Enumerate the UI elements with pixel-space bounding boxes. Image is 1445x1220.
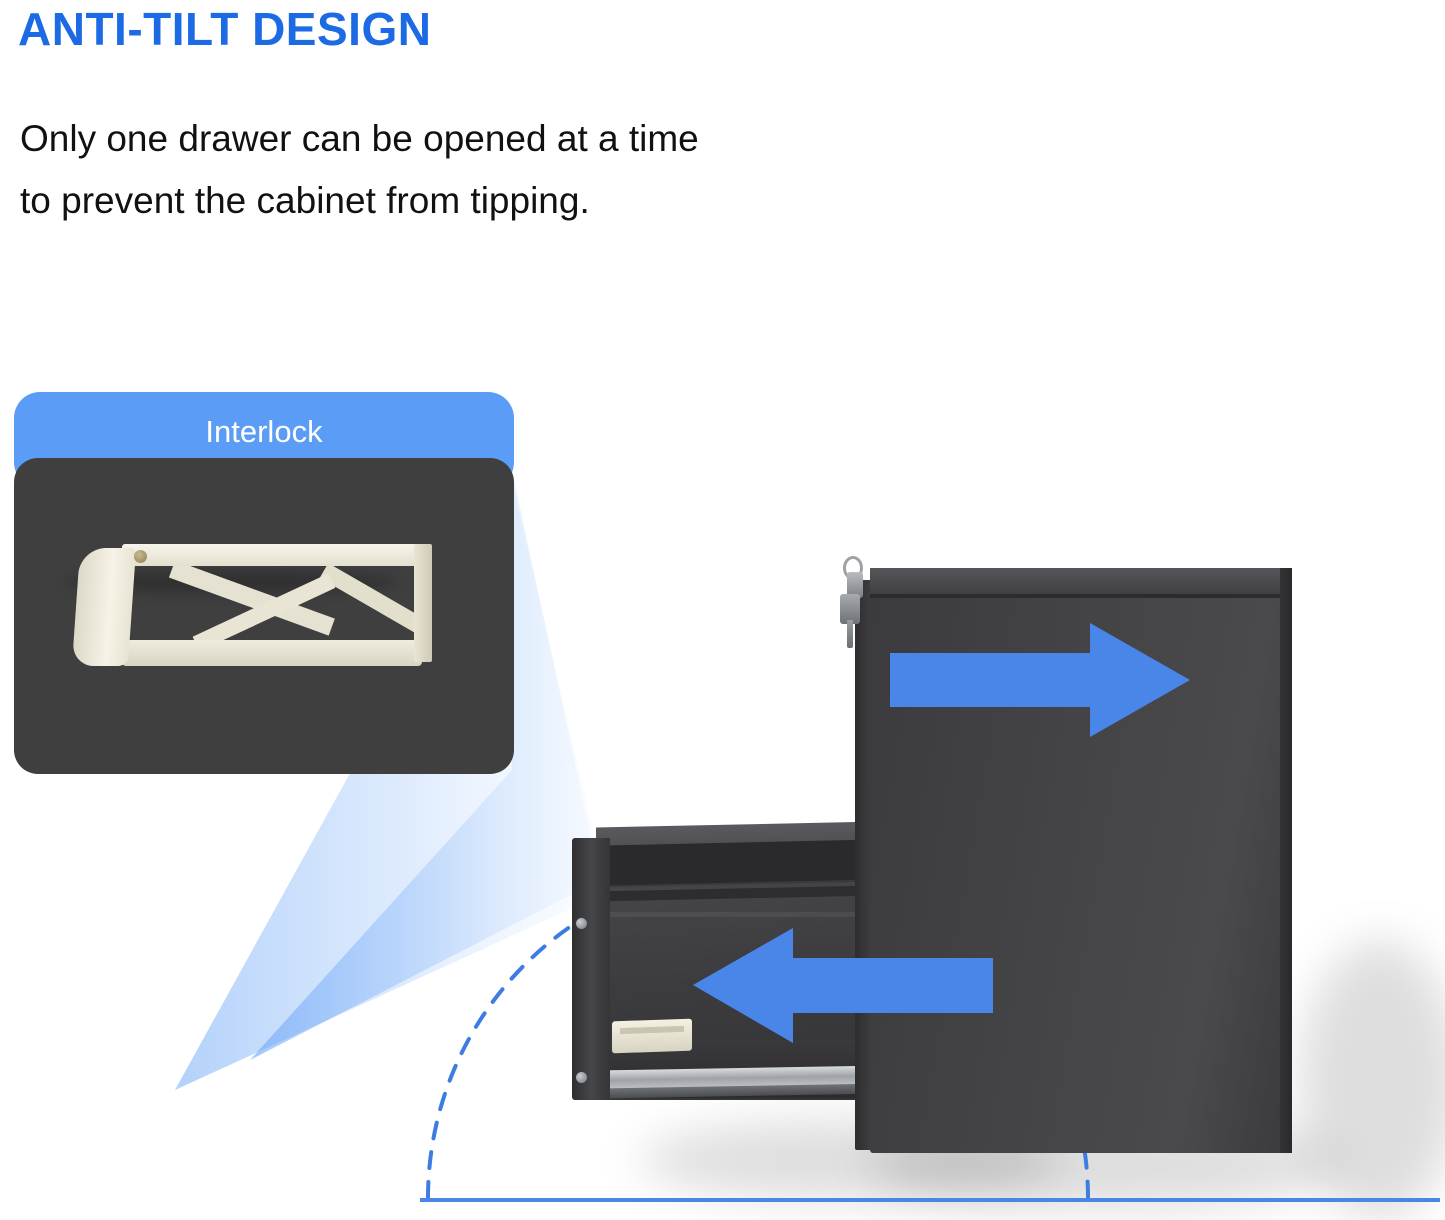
drawer-rivet-bottom (576, 1072, 587, 1083)
cabinet-right-edge (1280, 568, 1292, 1153)
page-subtitle: Only one drawer can be opened at a time … (20, 108, 720, 232)
interlock-bottom-flange (122, 640, 422, 666)
interlock-top-flange (122, 544, 431, 566)
interlock-screw-icon (134, 550, 147, 563)
cabinet-top-strip (870, 568, 1290, 596)
drawer-rivet-top (576, 918, 587, 929)
page-title: ANTI-TILT DESIGN (18, 2, 431, 56)
cabinet-top-edge (870, 594, 1290, 598)
top-arrow-right-icon (890, 615, 1195, 745)
interlock-left-hook (72, 548, 136, 666)
drawer-interlock-part (612, 1019, 692, 1054)
drawer-front-panel (572, 838, 610, 1100)
callout-tab-label: Interlock (14, 414, 514, 450)
floor-baseline (420, 1198, 1440, 1202)
cabinet-illustration (400, 520, 1445, 1213)
lock-key-icon (847, 620, 853, 648)
bottom-arrow-left-icon (688, 918, 998, 1053)
interlock-part-image (76, 544, 431, 676)
